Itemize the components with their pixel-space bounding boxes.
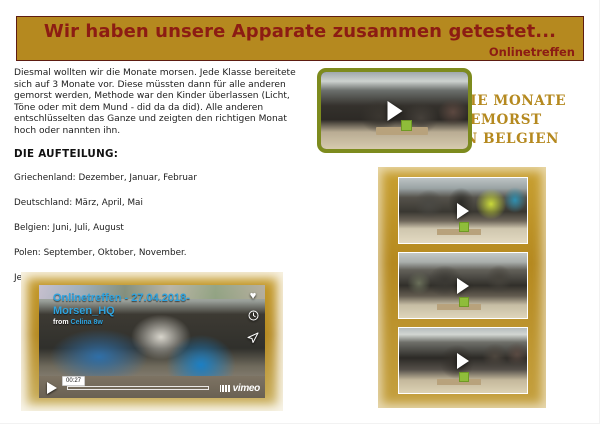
caption-line-1: DIE MONATE — [458, 92, 566, 111]
morse-tin — [401, 120, 412, 131]
play-icon[interactable] — [457, 203, 469, 219]
from-label: from — [53, 319, 69, 326]
vimeo-video-title[interactable]: Onlinetreffen - 27.04.2018-Morsen_HQ — [53, 292, 203, 318]
caption-line-2: GEMORST — [458, 111, 566, 130]
vimeo-control-bar: 00:27 vimeo — [39, 376, 265, 398]
vimeo-logo[interactable]: vimeo — [220, 383, 260, 394]
vimeo-action-buttons: ♥ — [247, 291, 259, 347]
assignment-line-poland: Polen: September, Oktober, November. — [14, 248, 304, 258]
morse-tin — [459, 297, 469, 307]
heart-icon[interactable]: ♥ — [250, 291, 257, 302]
article-text-column: Diesmal wollten wir die Monate morsen. J… — [14, 68, 304, 298]
vimeo-wordmark: vimeo — [233, 383, 260, 394]
caption-line-3: IN BELGIEN — [458, 130, 566, 149]
section-heading: DIE AUFTEILUNG: — [14, 148, 304, 160]
assignment-line-belgium: Belgien: Juni, Juli, August — [14, 223, 304, 233]
vimeo-embed-frame: Onlinetreffen - 27.04.2018-Morsen_HQ fro… — [21, 272, 283, 411]
clock-icon[interactable] — [248, 310, 259, 324]
vimeo-player[interactable]: Onlinetreffen - 27.04.2018-Morsen_HQ fro… — [39, 285, 265, 398]
assignment-line-germany: Deutschland: März, April, Mai — [14, 198, 304, 208]
play-icon[interactable] — [457, 278, 469, 294]
page-root: Wir haben unsere Apparate zusammen getes… — [0, 0, 600, 424]
assignment-line-greece: Griechenland: Dezember, Januar, Februar — [14, 173, 304, 183]
share-icon[interactable] — [247, 332, 259, 347]
featured-video-player[interactable] — [317, 68, 472, 153]
morse-tin — [459, 372, 469, 382]
vimeo-author-line: from Celina 8w — [53, 319, 103, 326]
intro-paragraph: Diesmal wollten wir die Monate morsen. J… — [14, 68, 304, 138]
belgien-video-1[interactable] — [398, 177, 528, 244]
header-banner: Wir haben unsere Apparate zusammen getes… — [16, 16, 584, 61]
caption-block: DIE MONATE GEMORST IN BELGIEN — [458, 92, 566, 149]
morse-tin — [459, 222, 469, 232]
timestamp-tooltip: 00:27 — [62, 376, 85, 386]
vimeo-author[interactable]: Celina 8w — [71, 319, 103, 326]
progress-scrubber[interactable] — [67, 386, 209, 390]
header-subtitle: Onlinetreffen — [489, 45, 575, 59]
video-gallery-column — [378, 167, 546, 408]
page-title: Wir haben unsere Apparate zusammen getes… — [17, 21, 583, 42]
belgien-video-2[interactable] — [398, 252, 528, 319]
equalizer-icon — [220, 385, 230, 392]
belgien-video-3[interactable] — [398, 327, 528, 394]
play-icon[interactable] — [387, 101, 402, 121]
play-icon[interactable] — [47, 382, 57, 394]
play-icon[interactable] — [457, 353, 469, 369]
